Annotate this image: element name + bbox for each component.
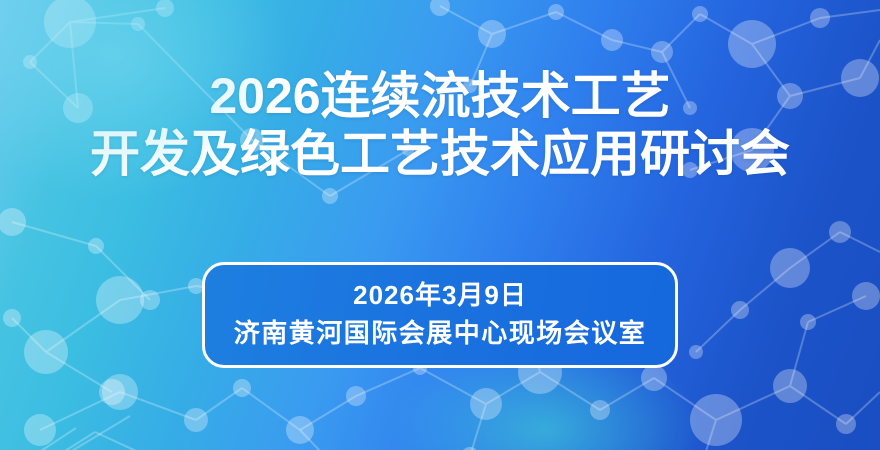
event-info-box: 2026年3月9日 济南黄河国际会展中心现场会议室 — [202, 262, 678, 368]
event-date: 2026年3月9日 — [353, 280, 527, 311]
title-line-2: 开发及绿色工艺技术应用研讨会 — [90, 127, 790, 181]
title-line-1: 2026连续流技术工艺 — [90, 69, 790, 123]
page-title: 2026连续流技术工艺 开发及绿色工艺技术应用研讨会 — [90, 69, 790, 181]
event-venue: 济南黄河国际会展中心现场会议室 — [234, 317, 647, 350]
conference-banner: 2026连续流技术工艺 开发及绿色工艺技术应用研讨会 2026年3月9日 济南黄… — [0, 0, 880, 450]
banner-content: 2026连续流技术工艺 开发及绿色工艺技术应用研讨会 2026年3月9日 济南黄… — [0, 0, 880, 450]
